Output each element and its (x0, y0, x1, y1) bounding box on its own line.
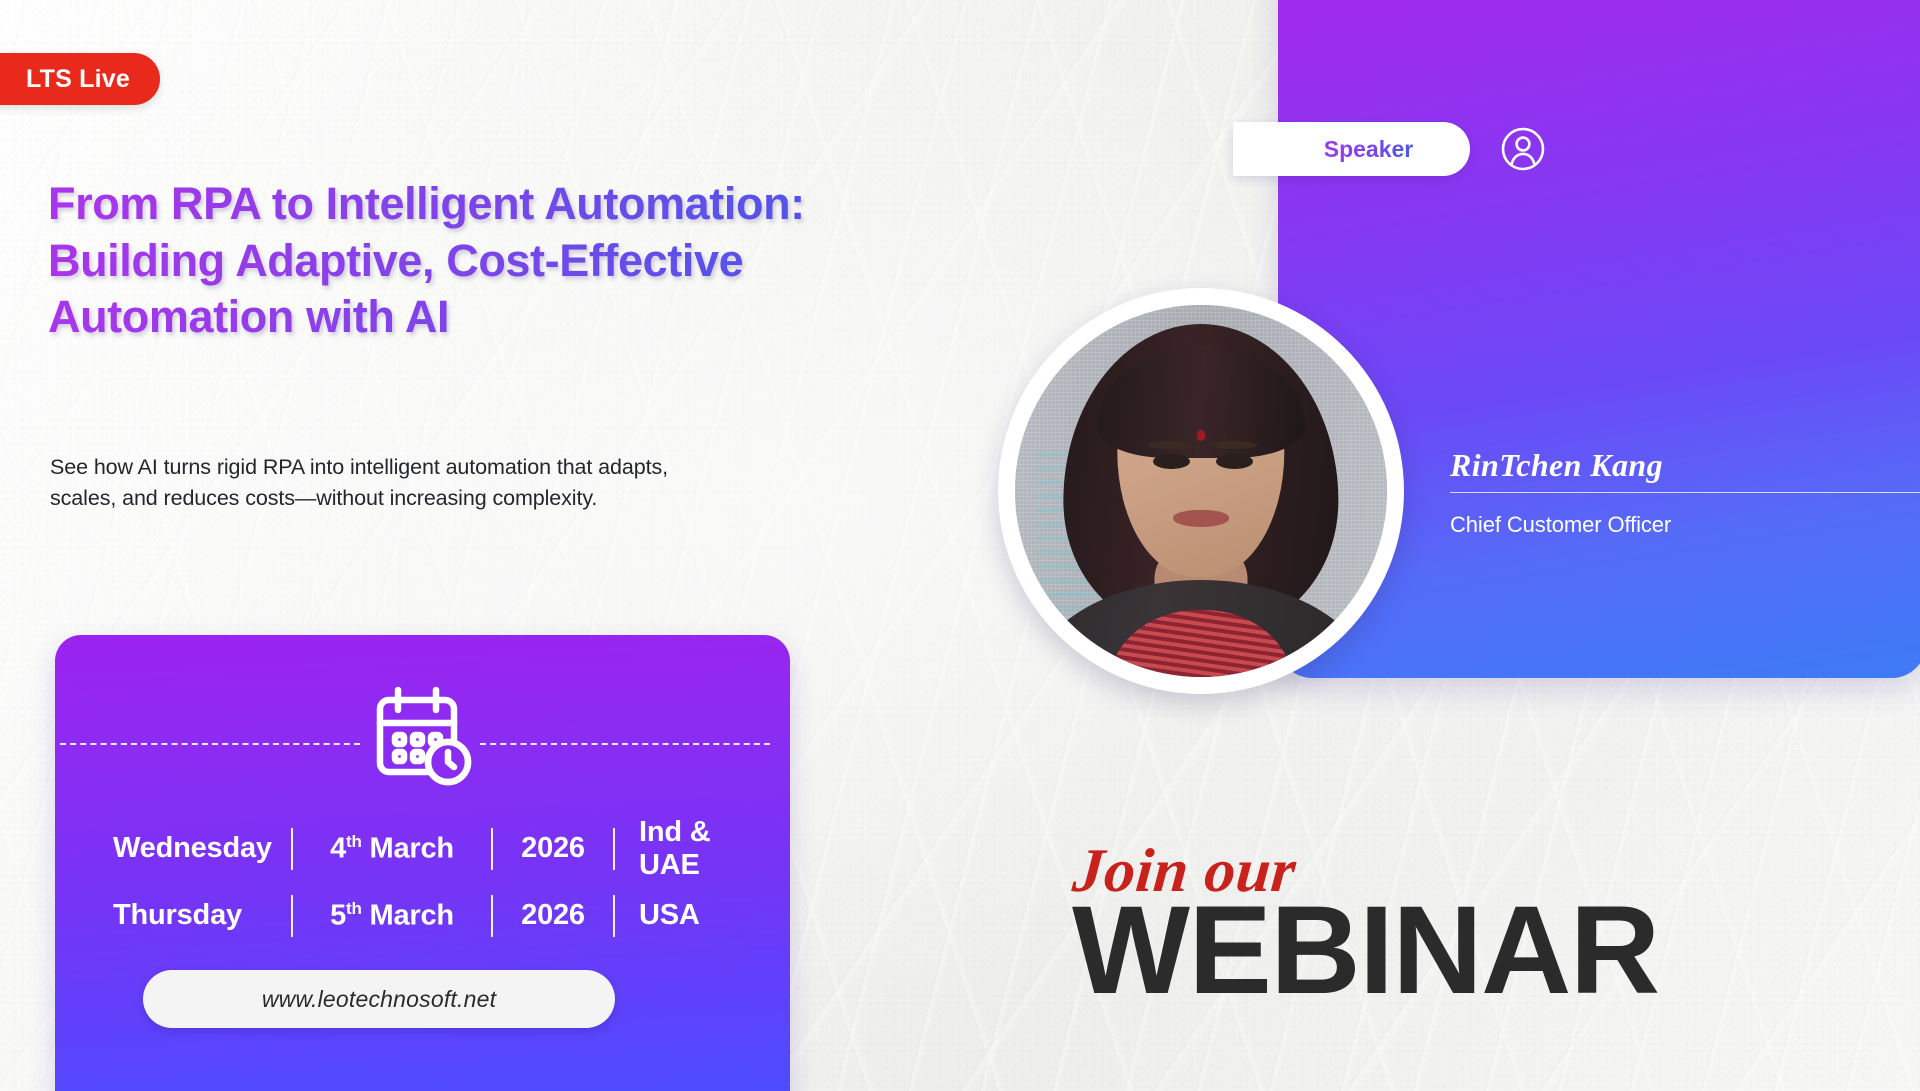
photo-brow-left (1147, 441, 1192, 449)
headline-line-3: Automation with AI (48, 289, 928, 346)
speaker-name-divider (1450, 492, 1920, 493)
lts-live-label: LTS Live (26, 65, 130, 94)
event-year: 2026 (493, 899, 613, 932)
speaker-avatar (998, 288, 1404, 694)
event-date-rows: Wednesday 4th March 2026 Ind & UAE Thurs… (55, 815, 790, 949)
table-row: Thursday 5th March 2026 USA (73, 882, 772, 949)
dashed-divider-right (480, 743, 770, 745)
speaker-role: Chief Customer Officer (1450, 512, 1870, 538)
event-date-card: Wednesday 4th March 2026 Ind & UAE Thurs… (55, 635, 790, 1091)
event-date: 5th March (293, 899, 491, 933)
photo-mouth (1173, 510, 1229, 527)
photo-bindi (1197, 430, 1206, 441)
website-url-button[interactable]: www.leotechnosoft.net (143, 970, 615, 1028)
person-circle-icon (1500, 126, 1546, 177)
event-day: Thursday (73, 899, 291, 932)
cta-headline-text: WEBINAR (1072, 888, 1659, 1013)
headline-line-2: Building Adaptive, Cost-Effective (48, 233, 928, 290)
event-day: Wednesday (73, 832, 291, 865)
webinar-banner: LTS Live From RPA to Intelligent Automat… (0, 0, 1920, 1091)
event-date: 4th March (293, 832, 491, 866)
speaker-pill: Speaker (1233, 122, 1470, 176)
event-year: 2026 (493, 832, 613, 865)
event-region: USA (615, 899, 772, 932)
headline-line-1: From RPA to Intelligent Automation: (48, 176, 928, 233)
page-title: From RPA to Intelligent Automation: Buil… (48, 176, 928, 346)
table-row: Wednesday 4th March 2026 Ind & UAE (73, 815, 772, 882)
event-region: Ind & UAE (615, 816, 772, 882)
website-url-label: www.leotechnosoft.net (262, 986, 496, 1013)
dashed-divider-left (60, 743, 360, 745)
calendar-clock-icon (371, 683, 475, 792)
speaker-name: RinTchen Kang (1450, 447, 1870, 484)
description-text: See how AI turns rigid RPA into intellig… (50, 452, 870, 513)
description-line-2: scales, and reduces costs—without increa… (50, 483, 870, 514)
speaker-pill-label: Speaker (1324, 136, 1414, 163)
description-line-1: See how AI turns rigid RPA into intellig… (50, 452, 870, 483)
speaker-photo (1015, 305, 1387, 677)
lts-live-badge: LTS Live (0, 53, 160, 105)
photo-brow-right (1212, 441, 1257, 449)
